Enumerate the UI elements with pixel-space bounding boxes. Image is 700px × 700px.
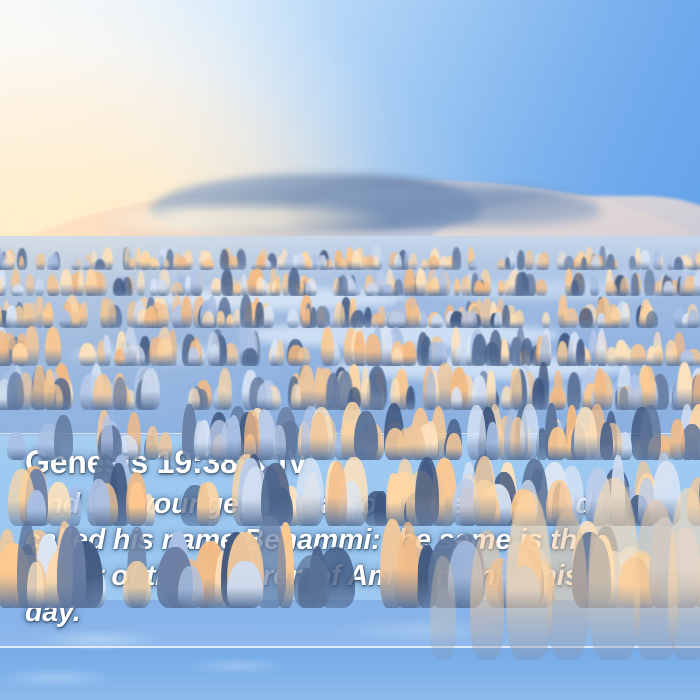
frosted-tree bbox=[548, 510, 588, 660]
verse-image-canvas: Genesis 19:38 KJV And the younger, she a… bbox=[0, 0, 700, 700]
frosted-tree bbox=[668, 488, 700, 660]
frosted-tree bbox=[506, 492, 552, 660]
frosted-tree bbox=[430, 556, 456, 660]
cloud-wisp bbox=[96, 206, 396, 232]
foreground-tree-band bbox=[0, 470, 700, 660]
frosted-tree bbox=[470, 530, 504, 660]
frosted-tree bbox=[588, 478, 640, 660]
